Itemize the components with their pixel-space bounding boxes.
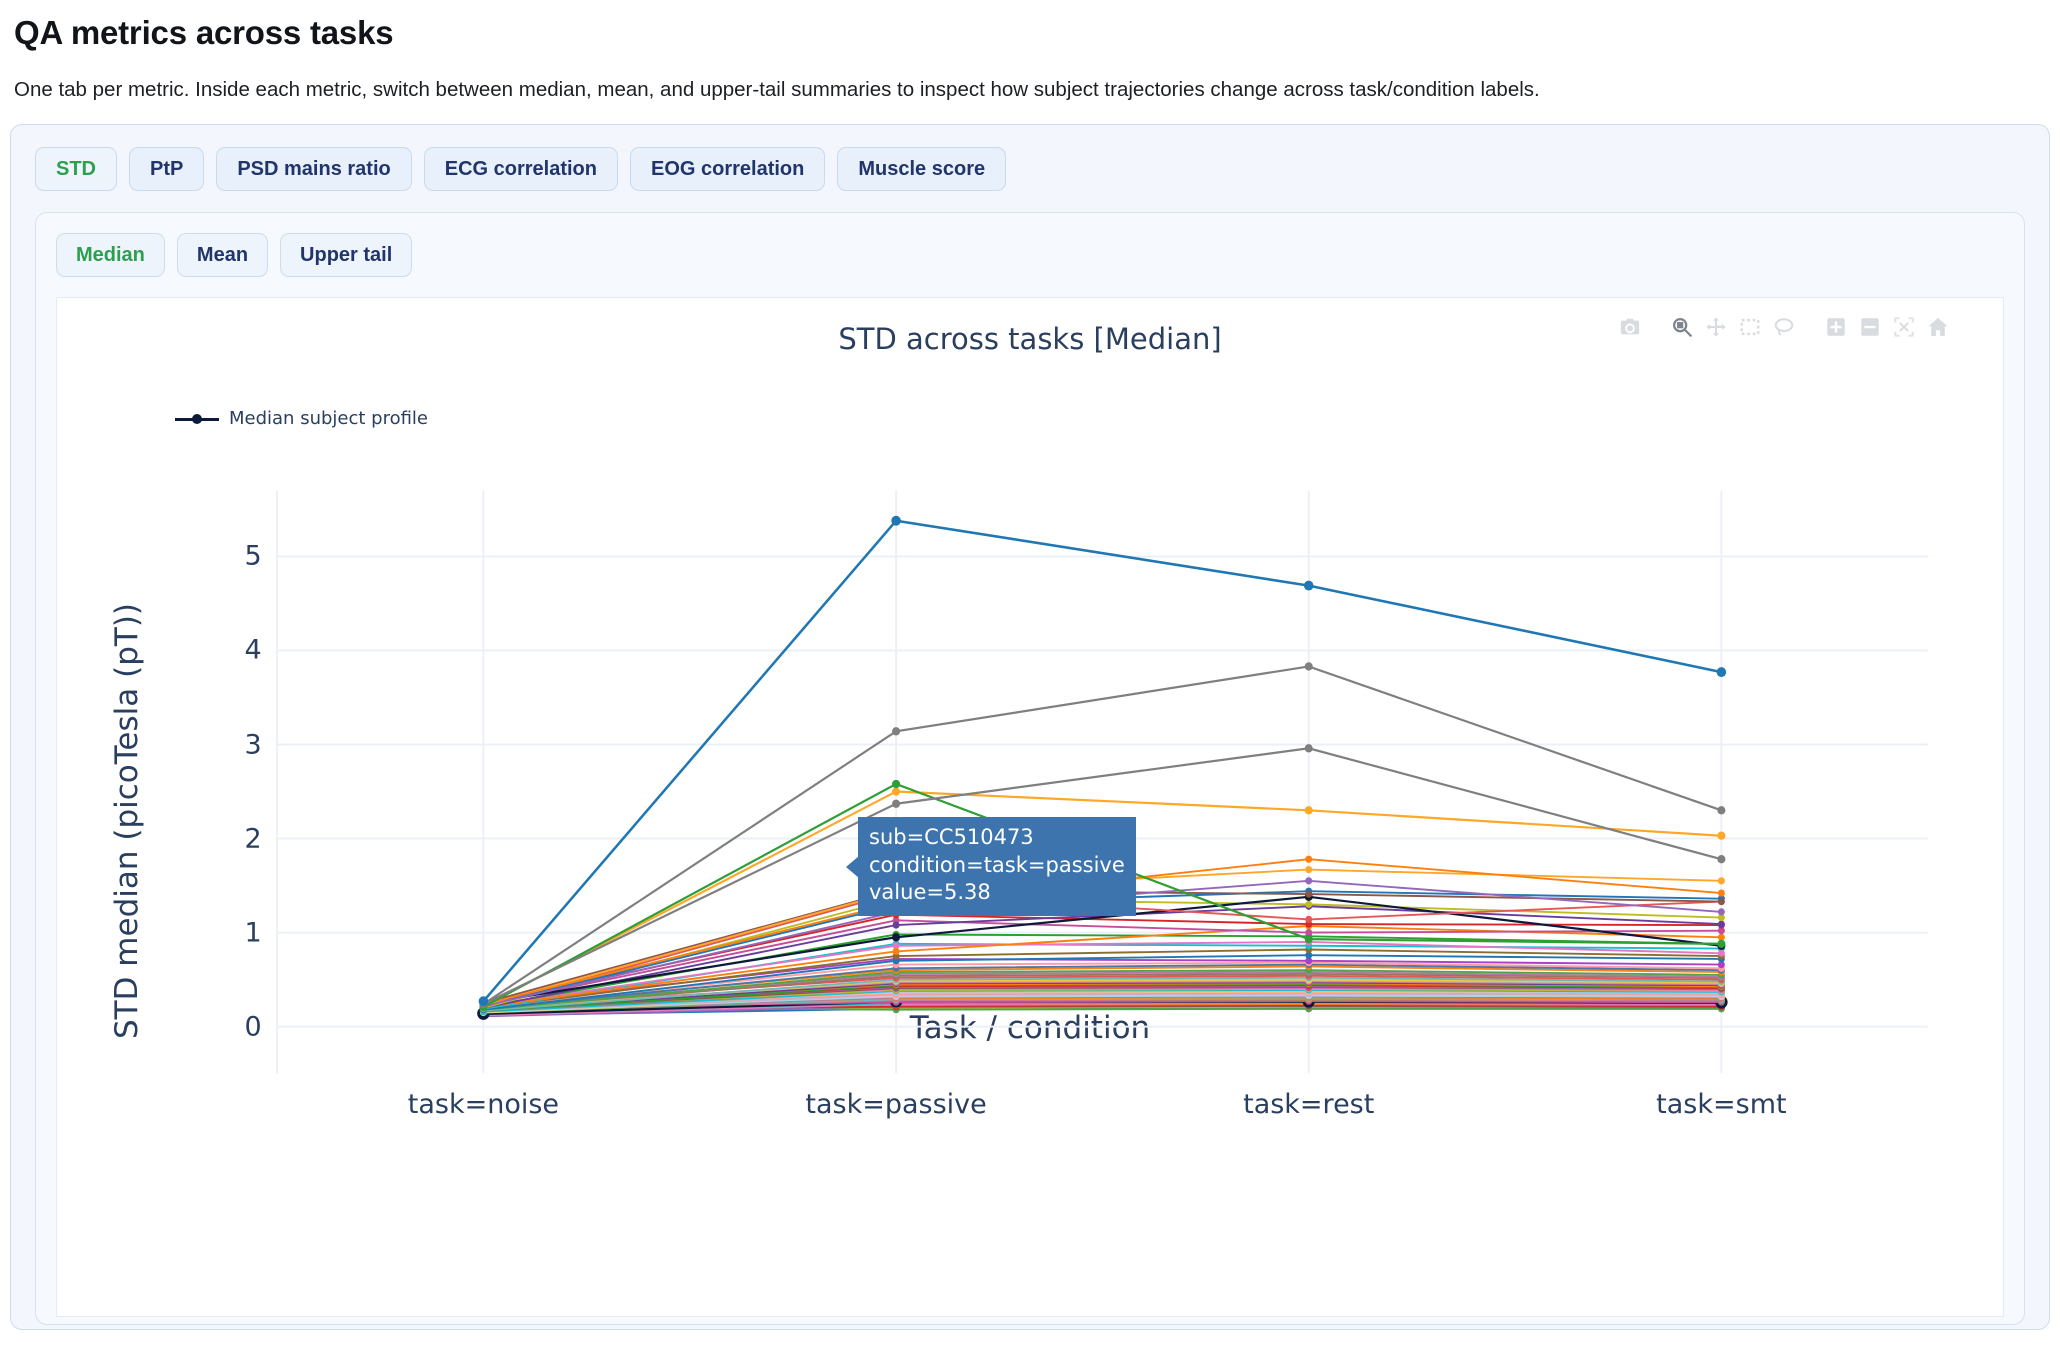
chart-point <box>893 948 900 955</box>
chart-point <box>1305 877 1312 884</box>
summary-tab-card: MedianMeanUpper tail <box>35 212 2025 1325</box>
chart-point <box>1718 877 1725 884</box>
chart-canvas[interactable] <box>57 298 2003 1316</box>
summary-tab-upper-tail[interactable]: Upper tail <box>280 233 412 277</box>
metric-tab-ecg-correlation[interactable]: ECG correlation <box>424 147 618 191</box>
tooltip-line-condition: condition=task=passive <box>869 852 1125 880</box>
tooltip-line-value: value=5.38 <box>869 879 1125 907</box>
chart-point <box>893 921 900 928</box>
chart-point <box>1718 889 1725 896</box>
metric-tab-muscle-score[interactable]: Muscle score <box>837 147 1006 191</box>
chart-point <box>1717 806 1725 814</box>
metric-tab-card: STDPtPPSD mains ratioECG correlationEOG … <box>10 124 2050 1330</box>
chart-point <box>1305 744 1313 752</box>
chart-point <box>1305 806 1313 814</box>
chart-point <box>479 996 489 1006</box>
plot-panel[interactable]: STD across tasks [Median] Median subject… <box>56 297 2004 1317</box>
chart-point <box>1717 855 1725 863</box>
page-subtitle: One tab per metric. Inside each metric, … <box>14 78 2050 102</box>
metric-tab-ptp[interactable]: PtP <box>129 147 204 191</box>
chart-point <box>1305 916 1312 923</box>
summary-tab-bar: MedianMeanUpper tail <box>56 233 2004 277</box>
chart-point <box>891 516 901 526</box>
chart-series-group <box>477 516 1727 1020</box>
chart-point <box>892 800 900 808</box>
metric-tab-bar: STDPtPPSD mains ratioECG correlationEOG … <box>35 147 2025 191</box>
app-root: QA metrics across tasks One tab per metr… <box>0 14 2060 1352</box>
chart-point <box>1718 950 1725 957</box>
chart-point <box>1718 921 1725 928</box>
chart-point <box>1718 908 1725 915</box>
metric-tab-psd-mains-ratio[interactable]: PSD mains ratio <box>216 147 411 191</box>
chart-point <box>1304 581 1314 591</box>
chart-point <box>1305 662 1313 670</box>
chart-point <box>1305 856 1312 863</box>
chart-point <box>892 933 900 941</box>
page-title: QA metrics across tasks <box>14 14 2050 52</box>
chart-point <box>892 780 900 788</box>
metric-tab-eog-correlation[interactable]: EOG correlation <box>630 147 825 191</box>
hover-tooltip: sub=CC510473 condition=task=passive valu… <box>858 817 1136 916</box>
chart-point <box>1718 898 1725 905</box>
chart-point <box>1717 940 1725 948</box>
chart-point <box>892 727 900 735</box>
chart-point <box>1305 890 1312 897</box>
chart-point <box>1305 866 1312 873</box>
chart-point <box>1717 667 1727 677</box>
chart-point <box>1305 935 1313 943</box>
tooltip-line-sub: sub=CC510473 <box>869 824 1125 852</box>
metric-tab-std[interactable]: STD <box>35 147 117 191</box>
chart-point <box>1717 832 1725 840</box>
summary-tab-median[interactable]: Median <box>56 233 165 277</box>
chart-line <box>483 521 1721 1002</box>
summary-tab-mean[interactable]: Mean <box>177 233 268 277</box>
chart-point <box>892 787 900 795</box>
chart-point <box>1305 901 1312 908</box>
